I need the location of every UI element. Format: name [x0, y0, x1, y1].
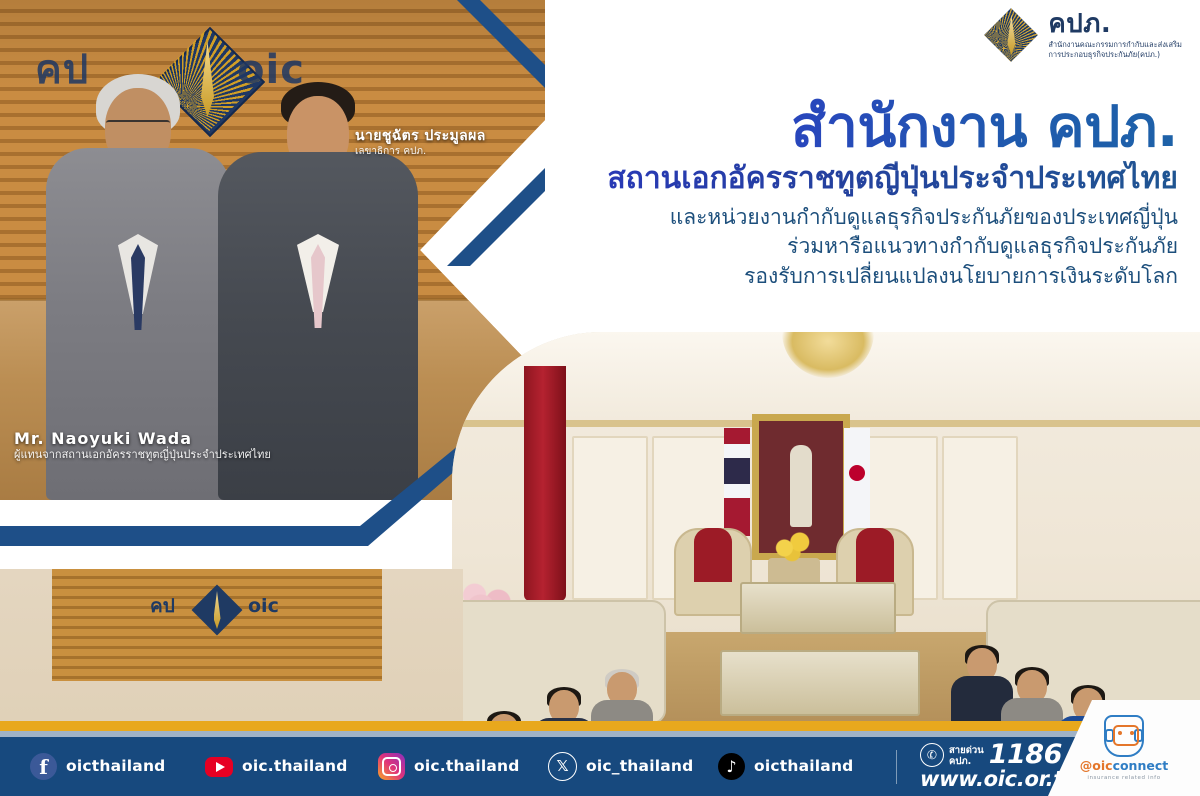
hotline-label-2: คปภ. — [949, 756, 984, 767]
thai-flag — [724, 428, 750, 536]
logo-subtitle: สำนักงานคณะกรรมการกำกับและส่งเสริม การปร… — [1048, 40, 1182, 60]
oic-connect-subtitle: insurance related info — [1087, 776, 1160, 782]
oic-connect-prefix: @oic — [1080, 758, 1113, 773]
oic-connect-name: @oicconnect — [1080, 760, 1168, 773]
headline-subtext: และหน่วยงานกำกับดูแลธุรกิจประกันภัยของปร… — [538, 203, 1178, 292]
poster-canvas: คป oic คปภ. สำนักงานคณะกรรมกา — [0, 0, 1200, 796]
social-youtube[interactable]: oic.thailand — [205, 737, 348, 796]
oic-connect-suffix: connect — [1113, 758, 1169, 773]
photo-group: คป oic — [0, 569, 463, 721]
tiktok-handle[interactable]: oicthailand — [754, 759, 853, 775]
social-x[interactable]: 𝕏 oic_thailand — [548, 737, 693, 796]
group-watermark-left: คป — [150, 597, 175, 616]
hotline-label-1: สายด่วน — [949, 745, 984, 756]
facebook-icon[interactable]: f — [30, 753, 57, 780]
instagram-handle[interactable]: oic.thailand — [414, 759, 520, 775]
caption-person-top: นายชูฉัตร ประมูลผล เลขาธิการ คปภ. — [355, 128, 486, 158]
youtube-handle[interactable]: oic.thailand — [242, 759, 348, 775]
caption-bottom-name: Mr. Naoyuki Wada — [14, 429, 271, 448]
social-facebook[interactable]: f oicthailand — [30, 737, 165, 796]
oic-logo: คปภ. สำนักงานคณะกรรมการกำกับและส่งเสริม … — [984, 8, 1182, 62]
flower-arrangement — [770, 524, 818, 564]
headline-line-5: รองรับการเปลี่ยนแปลงนโยบายการเงินระดับโล… — [538, 262, 1178, 292]
instagram-icon[interactable] — [378, 753, 405, 780]
tiktok-icon[interactable]: ♪ — [718, 753, 745, 780]
photo-meeting-room — [452, 332, 1200, 724]
headline-line-1: สำนักงาน คปภ. — [538, 98, 1178, 159]
social-instagram[interactable]: oic.thailand — [378, 737, 520, 796]
caption-top-role: เลขาธิการ คปภ. — [355, 145, 486, 158]
headline-line-3: และหน่วยงานกำกับดูแลธุรกิจประกันภัยของปร… — [538, 203, 1178, 233]
headline-line-4: ร่วมหารือแนวทางกำกับดูแลธุรกิจประกันภัย — [538, 232, 1178, 262]
group-watermark-right: oic — [248, 597, 279, 616]
x-twitter-icon[interactable]: 𝕏 — [548, 752, 577, 781]
social-tiktok[interactable]: ♪ oicthailand — [718, 737, 853, 796]
hotline-number[interactable]: 1186 — [989, 743, 1062, 767]
caption-top-name: นายชูฉัตร ประมูลผล — [355, 128, 486, 145]
chatbot-icon — [1104, 715, 1144, 757]
caption-person-bottom: Mr. Naoyuki Wada ผู้แทนจากสถานเอกอัครราช… — [14, 429, 271, 462]
caption-bottom-role: ผู้แทนจากสถานเอกอัครราชทูตญี่ปุ่นประจำปร… — [14, 448, 271, 462]
logo-abbrev: คปภ. — [1048, 11, 1182, 37]
gold-divider-bar — [0, 721, 1110, 731]
youtube-icon[interactable] — [205, 757, 233, 777]
headline-block: สำนักงาน คปภ. สถานเอกอัครราชทูตญี่ปุ่นปร… — [538, 98, 1178, 292]
x-handle[interactable]: oic_thailand — [586, 759, 693, 775]
phone-icon: ✆ — [920, 743, 944, 767]
oic-diamond-icon — [984, 8, 1038, 62]
japan-flag — [844, 428, 870, 536]
oic-group-logo-icon — [190, 583, 244, 637]
footer-divider — [896, 737, 897, 796]
header-panel: คปภ. สำนักงานคณะกรรมการกำกับและส่งเสริม … — [545, 0, 1200, 340]
facebook-handle[interactable]: oicthailand — [66, 759, 165, 775]
headline-line-2: สถานเอกอัครราชทูตญี่ปุ่นประจำประเทศไทย — [538, 161, 1178, 196]
